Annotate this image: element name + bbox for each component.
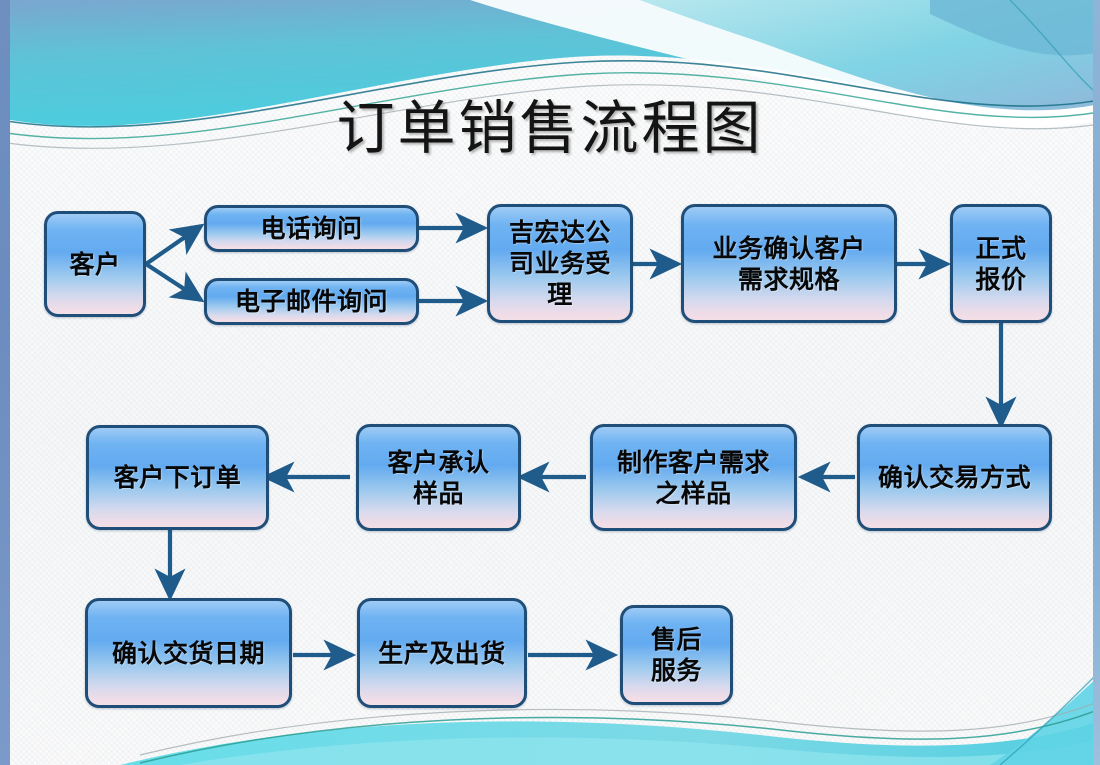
node-company-intake[interactable]: 吉宏达公 司业务受 理 [487,204,633,323]
node-confirm-specs[interactable]: 业务确认客户 需求规格 [681,204,897,323]
node-approve-sample[interactable]: 客户承认 样品 [356,424,521,531]
node-email-inquiry[interactable]: 电子邮件询问 [204,278,419,325]
node-make-sample[interactable]: 制作客户需求 之样品 [590,424,797,531]
node-confirm-terms[interactable]: 确认交易方式 [857,424,1052,531]
node-after-sales[interactable]: 售后 服务 [620,605,733,705]
page-title: 订单销售流程图 [0,96,1100,160]
node-phone-inquiry[interactable]: 电话询问 [204,205,419,252]
slide-canvas: 订单销售流程图 客户 电话询问 电子邮件询问 吉宏达公 司业务受 理 业务确认客… [0,0,1100,765]
node-place-order[interactable]: 客户下订单 [86,425,269,530]
node-confirm-date[interactable]: 确认交货日期 [85,598,292,708]
node-produce-ship[interactable]: 生产及出货 [357,598,527,708]
node-formal-quote[interactable]: 正式 报价 [950,204,1052,323]
node-customer[interactable]: 客户 [44,211,146,317]
